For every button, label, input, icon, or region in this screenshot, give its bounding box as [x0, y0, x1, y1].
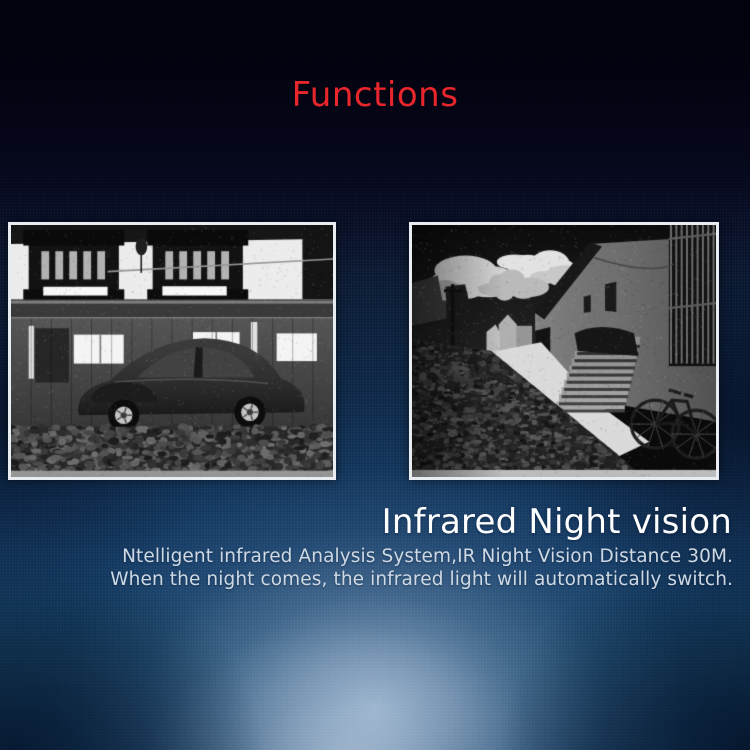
night-vision-photo-car-image — [11, 225, 333, 477]
night-vision-photo-street-image — [412, 225, 716, 477]
feature-description-line-1: Ntelligent infrared Analysis System,IR N… — [0, 545, 733, 568]
page-title: Functions — [0, 78, 750, 112]
night-vision-photo-street — [409, 222, 719, 480]
product-feature-slide: Functions Infrared Night vision Ntellige… — [0, 0, 750, 750]
night-vision-photo-car — [8, 222, 336, 480]
feature-description: Ntelligent infrared Analysis System,IR N… — [0, 545, 733, 591]
feature-headline: Infrared Night vision — [382, 505, 732, 541]
feature-description-line-2: When the night comes, the infrared light… — [0, 568, 733, 591]
